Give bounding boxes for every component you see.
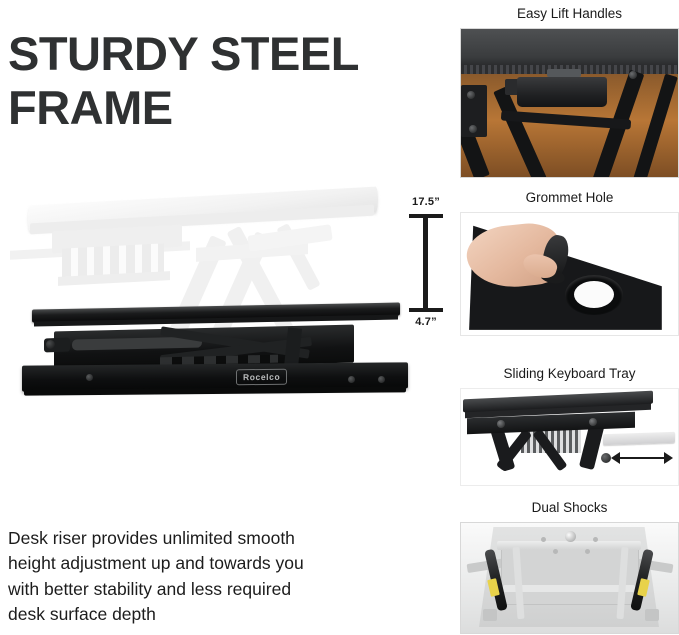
page-title: STURDY STEEL FRAME <box>8 27 448 135</box>
desk-riser-illustration: Rocelco <box>10 188 410 423</box>
feature-photo-easy-lift-handles <box>460 28 679 178</box>
base-screw-right <box>378 376 385 383</box>
handle-mount-bolt <box>547 69 581 77</box>
arrow-shaft <box>619 457 665 459</box>
center-bolt <box>565 531 576 542</box>
cross-rail-bottom <box>503 585 635 592</box>
page-title-line-2: FRAME <box>8 81 448 135</box>
description-line-4: desk surface depth <box>8 602 428 628</box>
base-foot-right <box>645 609 659 621</box>
rivet-3 <box>553 549 558 554</box>
feature-sliding-keyboard-tray: Sliding Keyboard Tray <box>460 366 679 486</box>
dimension-stem <box>423 217 428 309</box>
feature-panel-column: Easy Lift Handles Grommet Hole <box>460 0 679 635</box>
feature-photo-dual-shocks <box>460 522 679 634</box>
slide-direction-arrow-icon <box>611 449 673 467</box>
feature-grommet-hole: Grommet Hole <box>460 190 679 336</box>
description-line-1: Desk riser provides unlimited smooth <box>8 526 428 552</box>
grommet-hole-opening <box>574 281 614 308</box>
description-paragraph: Desk riser provides unlimited smooth hei… <box>8 526 428 628</box>
description-line-2: height adjustment up and towards you <box>8 551 428 577</box>
feature-caption-grommet-hole: Grommet Hole <box>460 190 679 206</box>
feature-photo-sliding-keyboard-tray <box>460 388 679 486</box>
rivet-1 <box>541 537 546 542</box>
rivet-2 <box>593 537 598 542</box>
rivet-4 <box>585 549 590 554</box>
lift-handle <box>517 77 607 107</box>
base-foot-left <box>483 609 497 621</box>
height-dimension-indicator: 17.5” 4.7” <box>398 196 454 336</box>
mount-screw-3 <box>629 71 637 79</box>
dimension-cap-bottom <box>409 308 443 312</box>
page-title-line-1: STURDY STEEL <box>8 27 448 81</box>
feature-photo-grommet-hole <box>460 212 679 336</box>
mount-screw-1 <box>467 91 475 99</box>
leg-pivot-right <box>589 418 597 426</box>
feature-easy-lift-handles: Easy Lift Handles <box>460 6 679 178</box>
brand-badge: Rocelco <box>236 369 287 385</box>
mount-screw-2 <box>469 125 477 133</box>
max-height-label: 17.5” <box>398 196 454 208</box>
base-screw-center <box>348 376 355 383</box>
left-column: STURDY STEEL FRAME Rocelco <box>0 0 455 635</box>
side-pivot-bolt <box>46 340 55 349</box>
feature-caption-easy-lift-handles: Easy Lift Handles <box>460 6 679 22</box>
arrow-head-right <box>664 452 673 464</box>
desk-deck-underside <box>461 29 678 69</box>
tray-lock-knob <box>601 453 611 463</box>
keyboard-tray-extended <box>603 432 675 446</box>
base-screw-left <box>86 374 93 381</box>
feature-dual-shocks: Dual Shocks <box>460 500 679 634</box>
description-line-3: with better stability and less required <box>8 577 428 603</box>
feature-caption-sliding-keyboard-tray: Sliding Keyboard Tray <box>460 366 679 382</box>
leg-pivot-left <box>497 420 505 428</box>
min-height-label: 4.7” <box>398 316 454 328</box>
feature-caption-dual-shocks: Dual Shocks <box>460 500 679 516</box>
